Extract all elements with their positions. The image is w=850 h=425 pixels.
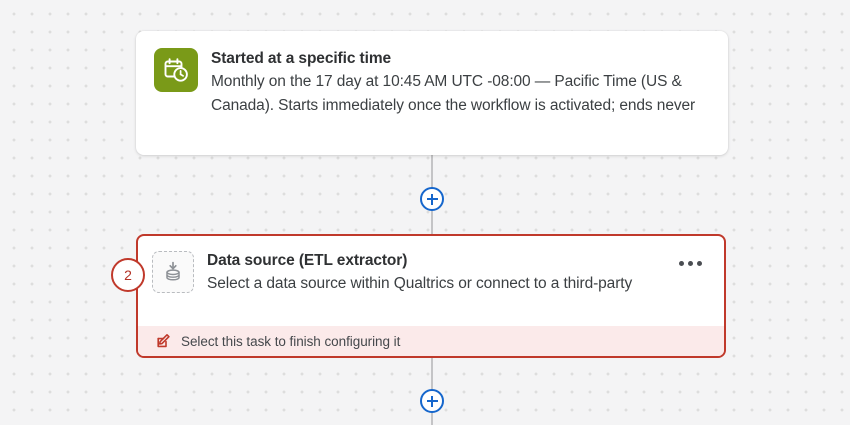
- trigger-title: Started at a specific time: [211, 48, 710, 70]
- trigger-card[interactable]: Started at a specific time Monthly on th…: [136, 31, 728, 155]
- step-number-badge: 2: [111, 258, 145, 292]
- step-number-label: 2: [124, 267, 132, 283]
- task-card[interactable]: Data source (ETL extractor) Select a dat…: [136, 234, 726, 358]
- task-description: Select a data source within Qualtrics or…: [207, 272, 710, 296]
- kebab-menu-icon[interactable]: [679, 261, 702, 266]
- task-warning-banner: Select this task to finish configuring i…: [138, 326, 724, 356]
- add-step-button-bottom[interactable]: [420, 389, 444, 413]
- task-title: Data source (ETL extractor): [207, 250, 710, 272]
- database-import-icon: [152, 251, 194, 293]
- trigger-card-body: Started at a specific time Monthly on th…: [211, 48, 710, 118]
- task-card-body: Data source (ETL extractor) Select a dat…: [207, 250, 710, 296]
- kebab-dot: [688, 261, 693, 266]
- add-step-button-top[interactable]: [420, 187, 444, 211]
- kebab-dot: [697, 261, 702, 266]
- task-warning-text: Select this task to finish configuring i…: [181, 334, 400, 349]
- calendar-clock-icon: [154, 48, 198, 92]
- edit-pencil-square-icon: [156, 333, 172, 349]
- trigger-description: Monthly on the 17 day at 10:45 AM UTC -0…: [211, 70, 710, 118]
- kebab-dot: [679, 261, 684, 266]
- task-card-main: Data source (ETL extractor) Select a dat…: [138, 236, 724, 314]
